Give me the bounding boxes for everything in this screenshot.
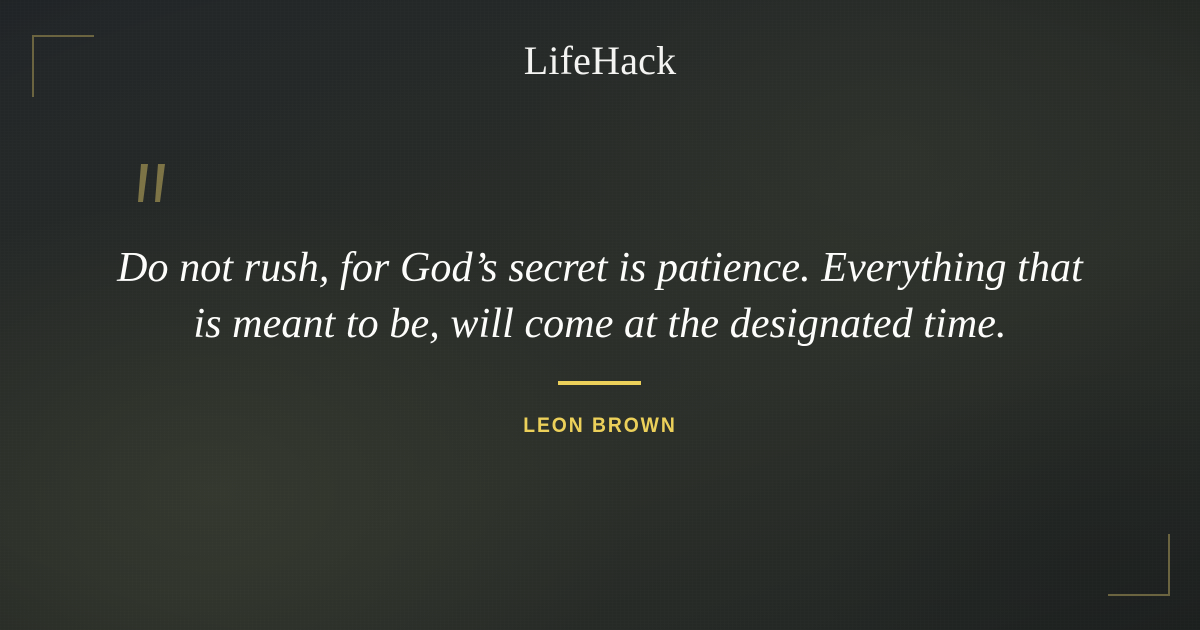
quote-author: LEON BROWN	[48, 413, 1152, 439]
quote-card: LifeHack Do not rush, for God’s secret i…	[0, 0, 1200, 630]
double-quote-icon	[131, 160, 191, 230]
quote-body-text: Do not rush, for God’s secret is patienc…	[100, 240, 1100, 352]
lifehack-logo: LifeHack	[0, 38, 1200, 84]
gold-divider	[558, 381, 641, 385]
